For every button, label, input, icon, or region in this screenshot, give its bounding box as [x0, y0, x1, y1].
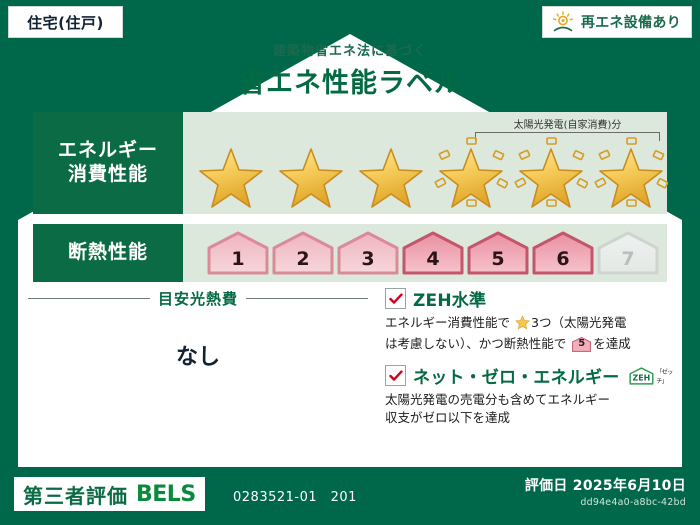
document-hash: dd94e4a0-a8bc-42bd — [525, 497, 686, 508]
energy-performance-row: エネルギー 消費性能 太陽光発電(自家消費)分 — [33, 112, 667, 214]
insulation-grade-number: 4 — [426, 248, 439, 275]
insulation-grade-1: 1 — [206, 231, 270, 275]
energy-label-line2: 消費性能 — [68, 163, 148, 187]
title-subtitle: 建築物省エネ法に基づく — [0, 40, 700, 59]
claim-net-zero-energy: ネット・ゼロ・エネルギー ZEH 「ゼッチ」 太陽光発電の売電分も含めてエネルギ… — [385, 363, 673, 427]
zeh-desc-part1: エネルギー消費性能で — [385, 315, 510, 330]
insulation-grade-number: 2 — [296, 248, 309, 275]
insulation-grade-scale: 1234567 — [183, 224, 675, 282]
bels-en-label: BELS — [136, 482, 196, 507]
zeh-logo-ruby: 「ゼッチ」 — [656, 367, 676, 385]
insulation-grade-2: 2 — [271, 231, 335, 275]
renewable-badge-label: 再エネ設備あり — [581, 12, 681, 32]
energy-label-line1: エネルギー — [58, 139, 158, 163]
divider-left — [28, 298, 150, 299]
zeh-desc-part2: は考慮しない）、かつ断熱性能で — [385, 336, 566, 351]
check-icon — [389, 370, 403, 382]
insulation-label-text: 断熱性能 — [68, 241, 148, 265]
insulation-grade-5: 5 — [466, 231, 530, 275]
solar-bracket-label: 太陽光発電(自家消費)分 — [475, 116, 660, 131]
utility-cost-block: 目安光熱費 なし — [28, 288, 368, 371]
net-zero-desc-line1: 太陽光発電の売電分も含めてエネルギー — [385, 392, 610, 407]
energy-label-card: 住宅(住戸) 再エネ設備あり 建築物省エネ法に基づく 省エネ性能ラベル エネルギ… — [0, 0, 700, 525]
check-icon — [389, 293, 403, 305]
insulation-grade-7: 7 — [596, 231, 660, 275]
bels-badge: 第三者評価 BELS — [14, 477, 205, 511]
inline-insulation-badge: 5 — [572, 337, 591, 352]
claim-net-zero-desc: 太陽光発電の売電分も含めてエネルギー 収支がゼロ以下を達成 — [385, 391, 673, 427]
claim-zeh-standard-head: ZEH水準 — [385, 286, 673, 311]
checkbox-zeh-standard — [385, 288, 406, 309]
checkbox-net-zero — [385, 365, 406, 386]
title-block: 建築物省エネ法に基づく 省エネ性能ラベル — [0, 40, 700, 100]
zeh-desc-star-count: 3つ（太陽光発電 — [531, 315, 626, 330]
star-base — [354, 135, 428, 209]
star-base — [274, 135, 348, 209]
building-type-tag: 住宅(住戸) — [8, 6, 123, 38]
insulation-performance-body: 1234567 — [183, 224, 667, 282]
insulation-grade-number: 7 — [621, 248, 634, 275]
star-solar — [434, 135, 508, 209]
star-rating — [183, 132, 673, 212]
sun-icon — [551, 11, 575, 33]
inline-badge-number: 5 — [572, 337, 591, 352]
star-base — [194, 135, 268, 209]
claim-net-zero-title: ネット・ゼロ・エネルギー — [413, 363, 619, 388]
insulation-grade-4: 4 — [401, 231, 465, 275]
bels-certificate-number: 0283521-01 201 — [233, 486, 357, 505]
svg-text:ZEH: ZEH — [633, 373, 651, 382]
insulation-grade-number: 5 — [491, 248, 504, 275]
zeh-desc-part3: を達成 — [593, 336, 631, 351]
claim-zeh-standard-title: ZEH水準 — [413, 286, 486, 311]
insulation-performance-row: 断熱性能 1234567 — [33, 224, 667, 282]
star-solar — [594, 135, 668, 209]
footer-right-block: 評価日 2025年6月10日 dd94e4a0-a8bc-42bd — [525, 475, 686, 508]
footer-bar: 第三者評価 BELS 0283521-01 201 評価日 2025年6月10日… — [0, 467, 700, 525]
claim-zeh-standard: ZEH水準 エネルギー消費性能で 3つ（太陽光発電 は考慮しない）、かつ断熱性能… — [385, 286, 673, 353]
energy-performance-label: エネルギー 消費性能 — [33, 112, 183, 214]
inline-star-icon — [515, 315, 530, 335]
utility-cost-heading: 目安光熱費 — [28, 288, 368, 309]
insulation-performance-label: 断熱性能 — [33, 224, 183, 282]
zeh-house-icon: ZEH — [629, 364, 654, 388]
divider-right — [246, 298, 368, 299]
claim-zeh-standard-desc: エネルギー消費性能で 3つ（太陽光発電 は考慮しない）、かつ断熱性能で 5 を達… — [385, 314, 673, 353]
net-zero-desc-line2: 収支がゼロ以下を達成 — [385, 410, 510, 425]
claim-net-zero-head: ネット・ゼロ・エネルギー ZEH 「ゼッチ」 — [385, 363, 673, 388]
renewable-energy-badge: 再エネ設備あり — [542, 6, 692, 38]
bels-jp-label: 第三者評価 — [23, 480, 128, 509]
insulation-grade-number: 1 — [231, 248, 244, 275]
page-title: 省エネ性能ラベル — [0, 61, 700, 100]
insulation-grade-3: 3 — [336, 231, 400, 275]
zeh-logo: ZEH 「ゼッチ」 — [629, 364, 676, 388]
insulation-grade-6: 6 — [531, 231, 595, 275]
energy-performance-body: 太陽光発電(自家消費)分 — [183, 112, 667, 214]
building-type-label: 住宅(住戸) — [27, 12, 104, 33]
insulation-grade-number: 3 — [361, 248, 374, 275]
evaluation-date: 評価日 2025年6月10日 — [525, 475, 686, 495]
insulation-grade-number: 6 — [556, 248, 569, 275]
star-solar — [514, 135, 588, 209]
claims-block: ZEH水準 エネルギー消費性能で 3つ（太陽光発電 は考慮しない）、かつ断熱性能… — [385, 286, 673, 438]
utility-cost-title: 目安光熱費 — [158, 288, 238, 309]
utility-cost-value: なし — [28, 339, 368, 371]
